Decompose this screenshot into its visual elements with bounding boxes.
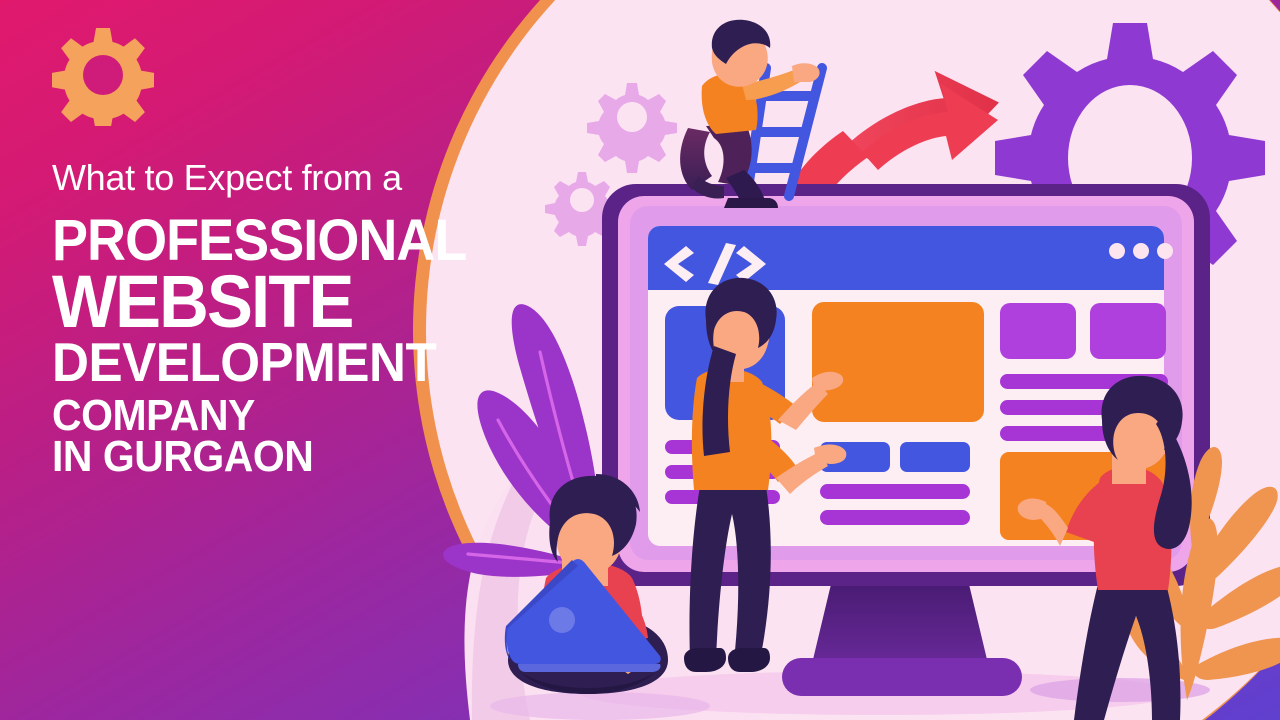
headline-line-5: IN GURGAON bbox=[52, 437, 452, 478]
card-block-purple-2 bbox=[1090, 303, 1166, 359]
headline-line-2: WEBSITE bbox=[52, 268, 452, 337]
kicker-text: What to Expect from a bbox=[52, 160, 482, 196]
banner-root: What to Expect from a PROFESSIONAL WEBSI… bbox=[0, 0, 1280, 720]
window-dots bbox=[1109, 243, 1173, 259]
hero-image-block-orange bbox=[812, 302, 984, 422]
button-block-blue-2 bbox=[900, 442, 970, 472]
headline-group: PROFESSIONAL WEBSITE DEVELOPMENT COMPANY… bbox=[52, 214, 482, 478]
headline-block: What to Expect from a PROFESSIONAL WEBSI… bbox=[52, 160, 482, 478]
headline-line-4: COMPANY bbox=[52, 396, 452, 437]
headline-line-3: DEVELOPMENT bbox=[52, 337, 452, 388]
monitor-base bbox=[782, 658, 1022, 696]
logo-gear-icon bbox=[52, 24, 154, 126]
card-block-purple-1 bbox=[1000, 303, 1076, 359]
